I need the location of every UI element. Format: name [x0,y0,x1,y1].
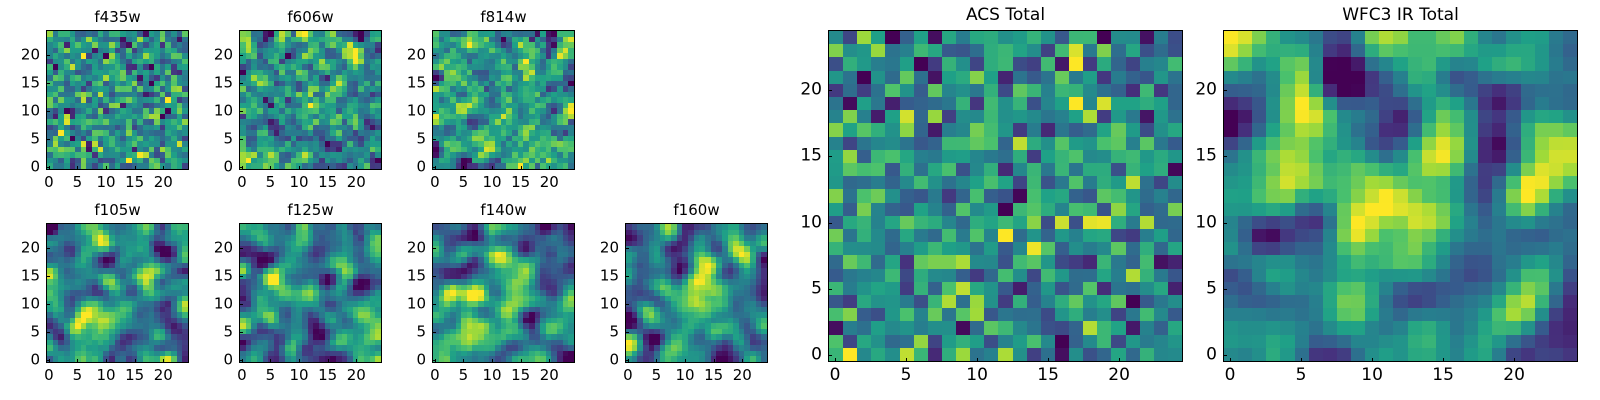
heatmap-cell [956,123,970,136]
heatmap-cell [956,137,970,150]
x-tick-label: 20 [347,368,366,383]
heatmap-cell [843,216,857,229]
x-tick-label: 20 [540,368,559,383]
heatmap-cell [1041,84,1055,97]
heatmap-cell [1154,150,1168,163]
x-tick-mark [299,359,300,363]
heatmap-cell [1055,189,1069,202]
heatmap-cell [885,203,899,216]
heatmap-cell [1097,176,1111,189]
heatmap-cell [871,84,885,97]
heatmap-cell [375,356,381,362]
heatmap-cell [871,163,885,176]
heatmap-cell [942,84,956,97]
heatmap-cell [1083,31,1097,44]
y-tick-label: 5 [4,132,40,147]
panel-title-f606w: f606w [239,10,382,25]
heatmap-cell [942,137,956,150]
x-tick-label: 5 [266,368,276,383]
axes-f105w [46,223,189,363]
heatmap-cell [1041,110,1055,123]
heatmap-cell [885,176,899,189]
y-tick-mark [46,167,50,168]
heatmap-cell [914,137,928,150]
heatmap-cell [1013,255,1027,268]
x-tick-label: 15 [704,368,723,383]
y-tick-label: 0 [390,160,426,175]
x-tick-label: 5 [652,368,662,383]
heatmap-cell [914,44,928,57]
heatmap-cell [1041,31,1055,44]
heatmap-cell [1027,150,1041,163]
heatmap-cell [1168,150,1182,163]
heatmap-cell [1140,110,1154,123]
x-tick-label: 15 [125,368,144,383]
heatmap-cell [928,189,942,202]
heatmap-cell [956,31,970,44]
x-tick-mark [163,166,164,170]
x-tick-label: 10 [483,368,502,383]
heatmap-cell [1097,84,1111,97]
x-tick-mark [685,359,686,363]
heatmap-cell [1055,110,1069,123]
panel-acs-total: ACS Total0510152005101520 [828,30,1183,362]
heatmap-cell [1097,150,1111,163]
y-tick-mark [239,360,243,361]
x-tick-mark [135,359,136,363]
heatmap-cell [1154,255,1168,268]
heatmap-cell [984,242,998,255]
heatmap-cell [885,31,899,44]
heatmap-cell [942,176,956,189]
heatmap-cell [970,57,984,70]
heatmap-cell [1055,31,1069,44]
heatmap-cell [1055,71,1069,84]
heatmap-cell [1097,31,1111,44]
heatmap-cell [1168,242,1182,255]
heatmap-cell [1111,189,1125,202]
heatmap-cell [1069,84,1083,97]
x-tick-mark [270,359,271,363]
heatmap-cell [871,137,885,150]
heatmap-cell [1140,31,1154,44]
heatmap-cell [1097,216,1111,229]
heatmap-cell [970,150,984,163]
heatmap-cell [1111,84,1125,97]
heatmap-cell [1055,203,1069,216]
x-tick-label: 0 [430,175,440,190]
heatmap-cell [1055,44,1069,57]
heatmap-f435w [47,31,188,169]
heatmap-cell [928,242,942,255]
heatmap-cell [1069,123,1083,136]
heatmap-cell [942,44,956,57]
axes-f125w [239,223,382,363]
heatmap-cell [1111,97,1125,110]
heatmap-cell [857,229,871,242]
heatmap-cell [1154,163,1168,176]
x-tick-label: 20 [154,368,173,383]
heatmap-cell [970,189,984,202]
x-tick-mark [270,166,271,170]
heatmap-cell [829,71,843,84]
heatmap-cell [970,31,984,44]
axes-acs-total [828,30,1183,362]
heatmap-cell [829,242,843,255]
heatmap-cell [1168,203,1182,216]
heatmap-cell [998,137,1012,150]
heatmap-cell [1027,229,1041,242]
heatmap-cell [1041,242,1055,255]
heatmap-cell [1111,57,1125,70]
heatmap-cell [1013,203,1027,216]
heatmap-cell [843,150,857,163]
x-tick-label: 5 [73,368,83,383]
heatmap-cell [1069,163,1083,176]
heatmap-cell [984,203,998,216]
x-tick-label: 20 [540,175,559,190]
panel-f140w: f140w0510152005101520 [432,223,575,363]
heatmap-cell [1126,123,1140,136]
y-tick-label: 20 [390,241,426,256]
heatmap-cell [1126,189,1140,202]
heatmap-cell [1083,44,1097,57]
heatmap-cell [998,176,1012,189]
heatmap-cell [1140,137,1154,150]
y-tick-label: 5 [390,325,426,340]
axes-f160w [625,223,768,363]
heatmap-cell [1083,242,1097,255]
heatmap-cell [1027,44,1041,57]
heatmap-cell [1027,110,1041,123]
heatmap-cell [857,110,871,123]
heatmap-cell [984,84,998,97]
heatmap-cell [942,229,956,242]
y-tick-mark [46,55,50,56]
heatmap-cell [857,84,871,97]
heatmap-f105w [47,224,188,362]
heatmap-cell [1154,44,1168,57]
y-tick-label: 20 [4,241,40,256]
heatmap-cell [1041,255,1055,268]
heatmap-cell [1027,97,1041,110]
y-tick-mark [46,139,50,140]
heatmap-cell [857,44,871,57]
y-tick-mark [432,55,436,56]
heatmap-cell [871,123,885,136]
heatmap-cell [1126,31,1140,44]
heatmap-cell [1154,242,1168,255]
heatmap-cell [900,31,914,44]
x-tick-mark [328,359,329,363]
x-tick-label: 15 [511,175,530,190]
y-tick-label: 10 [197,104,233,119]
axes-f814w [432,30,575,170]
heatmap-cell [1083,189,1097,202]
heatmap-cell [1168,216,1182,229]
heatmap-cell [1013,110,1027,123]
heatmap-cell [1140,216,1154,229]
x-tick-label: 5 [266,175,276,190]
heatmap-cell [1069,57,1083,70]
heatmap-cell [998,163,1012,176]
heatmap-cell [900,163,914,176]
heatmap-cell [1097,242,1111,255]
y-tick-label: 20 [197,241,233,256]
heatmap-cell [1111,163,1125,176]
heatmap-cell [928,71,942,84]
heatmap-cell [928,255,942,268]
heatmap-cell [914,71,928,84]
heatmap-cell [900,216,914,229]
heatmap-cell [829,97,843,110]
heatmap-cell [956,163,970,176]
y-tick-mark [239,332,243,333]
heatmap-cell [970,242,984,255]
panel-f435w: f435w0510152005101520 [46,30,189,170]
heatmap-cell [829,255,843,268]
heatmap-cell [1027,203,1041,216]
heatmap-cell [1154,123,1168,136]
x-tick-mark [714,359,715,363]
heatmap-cell [1140,189,1154,202]
heatmap-cell [1055,176,1069,189]
heatmap-cell [900,203,914,216]
heatmap-cell [1097,44,1111,57]
heatmap-cell [871,150,885,163]
heatmap-cell [1168,110,1182,123]
y-tick-label: 10 [4,297,40,312]
x-tick-label: 15 [125,175,144,190]
heatmap-cell [942,189,956,202]
x-tick-label: 20 [154,175,173,190]
heatmap-cell [1013,97,1027,110]
x-tick-mark [163,359,164,363]
heatmap-cell [871,57,885,70]
heatmap-cell [857,203,871,216]
heatmap-cell [871,176,885,189]
heatmap-cell [942,242,956,255]
heatmap-cell [1140,57,1154,70]
heatmap-cell [998,229,1012,242]
heatmap-cell [1041,229,1055,242]
heatmap-cell [1168,71,1182,84]
heatmap-cell [1140,229,1154,242]
heatmap-cell [914,31,928,44]
heatmap-cell [900,84,914,97]
heatmap-cell [1055,242,1069,255]
heatmap-f814w [433,31,574,169]
y-tick-mark [46,360,50,361]
heatmap-cell [984,176,998,189]
heatmap-cell [1168,123,1182,136]
heatmap-cell [885,84,899,97]
y-tick-mark [239,83,243,84]
heatmap-cell [1126,203,1140,216]
heatmap-cell [914,150,928,163]
heatmap-cell [1083,216,1097,229]
heatmap-cell [970,255,984,268]
axes-f140w [432,223,575,363]
heatmap-cell [1126,229,1140,242]
heatmap-cell [1027,31,1041,44]
x-tick-mark [356,359,357,363]
heatmap-cell [857,123,871,136]
panel-title-f435w: f435w [46,10,189,25]
y-tick-mark [432,360,436,361]
heatmap-cell [1013,31,1027,44]
heatmap-cell [1154,216,1168,229]
x-tick-label: 10 [97,175,116,190]
heatmap-cell [928,31,942,44]
heatmap-cell [942,255,956,268]
heatmap-cell [1069,44,1083,57]
heatmap-cell [928,150,942,163]
heatmap-cell [1069,110,1083,123]
heatmap-cell [998,150,1012,163]
x-tick-mark [328,166,329,170]
x-tick-label: 0 [44,175,54,190]
heatmap-cell [1041,176,1055,189]
y-tick-label: 15 [4,76,40,91]
heatmap-cell [1168,84,1182,97]
heatmap-cell [1083,203,1097,216]
heatmap-cell [857,137,871,150]
heatmap-cell [900,71,914,84]
heatmap-cell [914,176,928,189]
panel-f105w: f105w0510152005101520 [46,223,189,363]
y-tick-mark [46,83,50,84]
x-tick-label: 20 [733,368,752,383]
heatmap-cell [1126,216,1140,229]
heatmap-cell [843,137,857,150]
y-tick-mark [239,276,243,277]
heatmap-cell [1083,110,1097,123]
heatmap-cell [1111,255,1125,268]
heatmap-cell [1055,163,1069,176]
y-tick-label: 10 [390,297,426,312]
heatmap-cell [942,150,956,163]
heatmap-cell [885,97,899,110]
heatmap-cell [1140,71,1154,84]
panel-title-acs-total: ACS Total [828,7,1183,24]
heatmap-cell [1013,242,1027,255]
y-tick-label: 5 [390,132,426,147]
heatmap-cell [956,57,970,70]
heatmap-cell [182,163,188,169]
heatmap-cell [857,255,871,268]
heatmap-cell [1168,31,1182,44]
y-tick-label: 15 [390,76,426,91]
heatmap-cell [871,203,885,216]
heatmap-f140w [433,224,574,362]
heatmap-cell [182,356,188,362]
heatmap-cell [829,189,843,202]
heatmap-cell [942,71,956,84]
heatmap-cell [568,163,574,169]
heatmap-cell [1126,44,1140,57]
heatmap-cell [1083,229,1097,242]
heatmap-cell [900,44,914,57]
heatmap-cell [928,57,942,70]
x-tick-label: 0 [44,368,54,383]
heatmap-cell [375,163,381,169]
panel-f606w: f606w0510152005101520 [239,30,382,170]
y-tick-label: 15 [390,269,426,284]
x-tick-label: 10 [290,368,309,383]
heatmap-cell [956,150,970,163]
heatmap-cell [970,44,984,57]
heatmap-cell [1154,203,1168,216]
x-tick-mark [135,166,136,170]
x-tick-mark [492,166,493,170]
heatmap-cell [1041,123,1055,136]
x-tick-mark [463,359,464,363]
heatmap-cell [1097,229,1111,242]
heatmap-cell [1083,255,1097,268]
heatmap-cell [998,84,1012,97]
heatmap-cell [1154,97,1168,110]
heatmap-cell [829,57,843,70]
y-tick-label: 10 [4,104,40,119]
heatmap-cell [942,163,956,176]
heatmap-cell [1041,57,1055,70]
heatmap-cell [1126,57,1140,70]
heatmap-cell [970,216,984,229]
heatmap-cell [1069,137,1083,150]
heatmap-cell [956,216,970,229]
heatmap-cell [871,44,885,57]
heatmap-cell [984,229,998,242]
heatmap-cell [956,44,970,57]
heatmap-cell [1013,189,1027,202]
y-tick-label: 15 [197,269,233,284]
heatmap-cell [1083,176,1097,189]
heatmap-cell [984,137,998,150]
heatmap-cell [956,110,970,123]
heatmap-cell [871,97,885,110]
heatmap-cell [970,137,984,150]
y-tick-label: 20 [583,241,619,256]
heatmap-cell [857,97,871,110]
heatmap-cell [970,203,984,216]
heatmap-cell [984,123,998,136]
heatmap-cell [928,97,942,110]
axes-f435w [46,30,189,170]
heatmap-cell [1069,31,1083,44]
heatmap-cell [1097,71,1111,84]
heatmap-cell [1140,97,1154,110]
x-tick-label: 15 [318,368,337,383]
heatmap-cell [984,44,998,57]
heatmap-cell [1154,189,1168,202]
heatmap-cell [1041,189,1055,202]
heatmap-cell [843,203,857,216]
y-tick-mark [239,248,243,249]
heatmap-cell [1027,123,1041,136]
heatmap-cell [843,97,857,110]
heatmap-cell [843,110,857,123]
heatmap-cell [984,216,998,229]
heatmap-cell [984,189,998,202]
heatmap-cell [1126,163,1140,176]
x-tick-mark [106,359,107,363]
heatmap-cell [942,31,956,44]
heatmap-cell [942,203,956,216]
panel-title-f814w: f814w [432,10,575,25]
heatmap-cell [928,84,942,97]
heatmap-cell [1013,123,1027,136]
